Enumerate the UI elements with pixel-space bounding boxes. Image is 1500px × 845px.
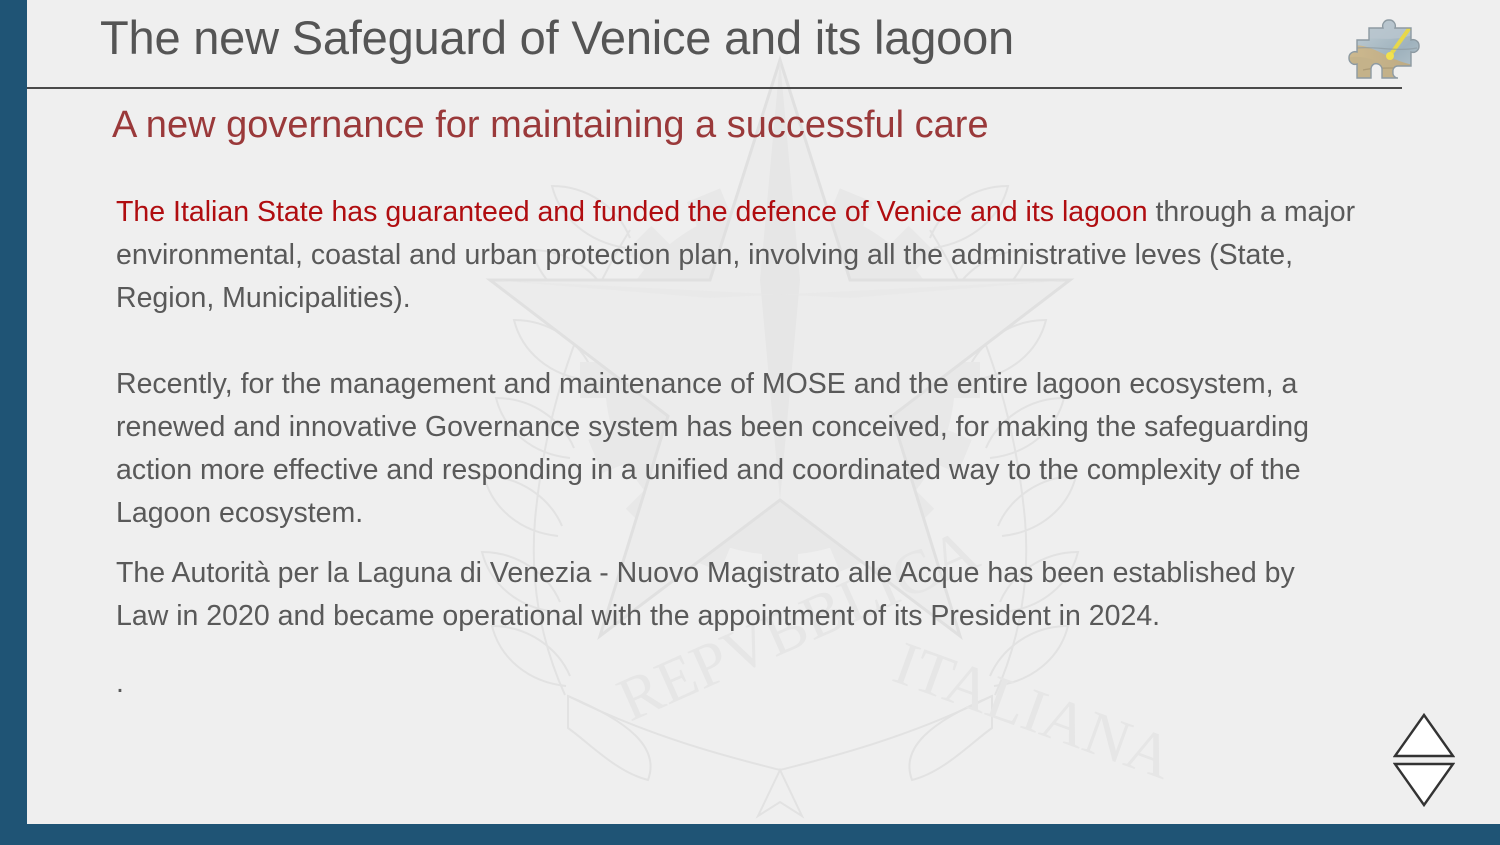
body-paragraph-1: The Italian State has guaranteed and fun… [116, 191, 1361, 320]
page-title: The new Safeguard of Venice and its lago… [100, 11, 1340, 65]
puzzle-piece-logo-icon [1347, 12, 1443, 82]
slide-navigation [1393, 711, 1455, 809]
body-paragraph-2: Recently, for the management and mainten… [116, 363, 1331, 535]
slide-body: The Italian State has guaranteed and fun… [116, 191, 1366, 705]
presentation-slide: REPVBBLICA ITALIANA The new Safeguard of… [0, 0, 1500, 845]
title-divider [27, 87, 1402, 89]
page-subtitle: A new governance for maintaining a succe… [112, 103, 1392, 148]
body-paragraph-4: . [116, 662, 1366, 705]
paragraph-spacer [116, 320, 1366, 363]
nav-up-arrow-icon[interactable] [1395, 715, 1453, 756]
body-paragraph-1-highlight: The Italian State has guaranteed and fun… [116, 196, 1148, 228]
body-paragraph-3: The Autorità per la Laguna di Venezia - … [116, 552, 1346, 638]
left-accent-bar [0, 0, 27, 824]
nav-down-arrow-icon[interactable] [1395, 764, 1453, 805]
bottom-accent-bar [0, 824, 1500, 845]
